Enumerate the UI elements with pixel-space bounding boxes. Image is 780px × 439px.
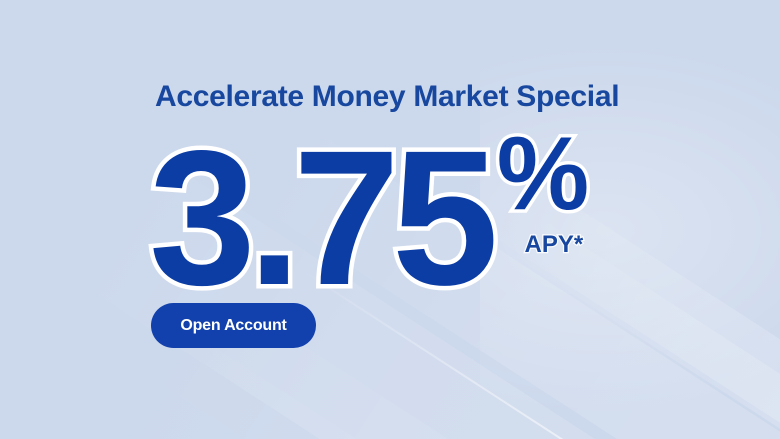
page-title: Accelerate Money Market Special	[155, 80, 619, 114]
money-market-promo-banner: Accelerate Money Market Special 3.75 % A…	[0, 0, 780, 439]
rate-suffix-group: % APY*	[497, 132, 589, 259]
banner-content: Accelerate Money Market Special 3.75 % A…	[0, 0, 780, 439]
apy-label: APY*	[524, 231, 583, 259]
open-account-button[interactable]: Open Account	[151, 303, 316, 348]
percent-symbol: %	[497, 132, 589, 217]
rate-display: 3.75 % APY*	[149, 122, 589, 314]
rate-value: 3.75	[149, 122, 491, 314]
